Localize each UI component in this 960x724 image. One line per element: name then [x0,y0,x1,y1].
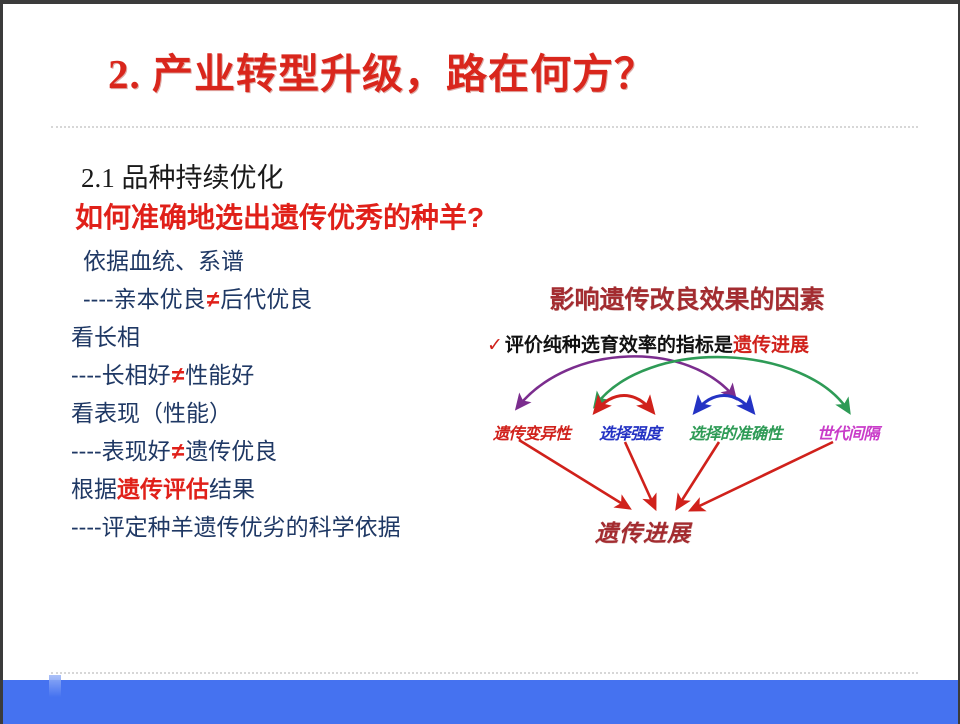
bullet-text-neq: ≠ [171,362,186,388]
diagram-node-variation: 遗传变异性 [493,420,571,444]
bullet-text-navy: ----表现好 [71,438,171,464]
diagram-node-progress: 遗传进展 [595,514,691,548]
diagram-node-interval: 世代间隔 [817,420,879,444]
diagram-arrows [477,350,907,550]
line-pedigree-sub: ----亲本优良≠后代优良 [71,280,471,318]
section-heading: 2.1 品种持续优化 [81,156,284,195]
line-appearance-sub: ----长相好≠性能好 [71,356,471,394]
bullet-text-navy: 遗传优良 [185,438,277,464]
bullet-text-navy: 性能好 [185,362,254,388]
line-performance: 看表现（性能） [71,394,471,432]
bullet-text-navy: ----评定种羊遗传优劣的科学依据 [71,514,401,540]
bullet-text-navy: 结果 [209,476,255,502]
bullet-text-navy: 后代优良 [220,286,312,312]
line-pedigree: 依据血统、系谱 [71,242,471,280]
divider-bottom [51,672,918,674]
bottom-bar [3,680,958,724]
bullet-text-navy: 看长相 [71,324,140,350]
divider-top [51,126,918,128]
section-question: 如何准确地选出遗传优秀的种羊? [75,196,484,236]
slide-canvas: 2. 产业转型升级，路在何方？ 2.1 品种持续优化 如何准确地选出遗传优秀的种… [0,0,960,724]
diagram-panel: 影响遗传改良效果的因素 ✓评价纯种选育效率的指标是遗传进展 [477,272,907,552]
line-evaluation: 根据遗传评估结果 [71,470,471,508]
bullet-text-navy: 根据 [71,476,117,502]
bottom-bar-marker [49,675,61,697]
bullet-text-navy: 依据血统、系谱 [83,248,244,274]
line-performance-sub: ----表现好≠遗传优良 [71,432,471,470]
bullet-list: 依据血统、系谱----亲本优良≠后代优良看长相----长相好≠性能好看表现（性能… [71,242,471,546]
diagram-node-accuracy: 选择的准确性 [689,420,782,444]
bullet-text-navy: ----长相好 [71,362,171,388]
page-title: 2. 产业转型升级，路在何方？ [108,40,656,100]
bullet-text-navy: 看表现（性能） [71,400,232,426]
bullet-text-navy: ----亲本优良 [83,286,206,312]
bullet-text-neq: ≠ [206,286,221,312]
bullet-text-hl-red: 遗传评估 [117,476,209,502]
diagram-node-intensity: 选择强度 [599,420,661,444]
line-appearance: 看长相 [71,318,471,356]
bullet-text-neq: ≠ [171,438,186,464]
diagram-title: 影响遗传改良效果的因素 [477,280,897,316]
line-evaluation-sub: ----评定种羊遗传优劣的科学依据 [71,508,471,546]
